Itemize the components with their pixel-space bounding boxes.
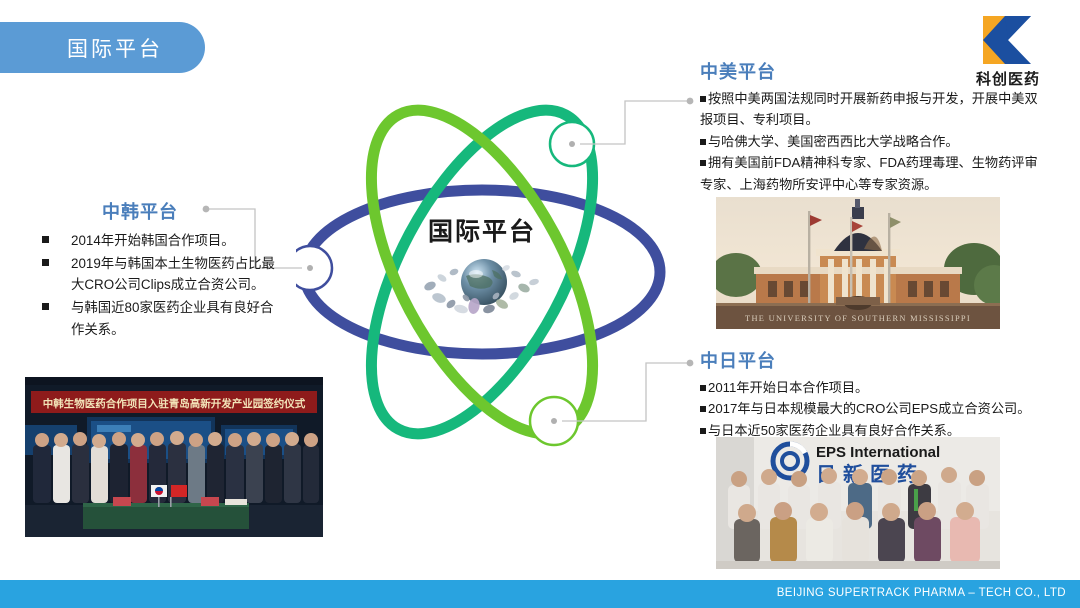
globe-pills-illustration xyxy=(406,246,562,320)
block-korea: 中韩平台 2014年开始韩国合作项目。 2019年与韩国本土生物医药占比最大CR… xyxy=(22,198,284,342)
node-dot-korea xyxy=(307,265,313,271)
node-dot-japan xyxy=(551,418,557,424)
photo-eps-sign-line1: EPS International xyxy=(816,444,940,461)
connector-dot-us xyxy=(687,98,694,105)
block-us: 中美平台 按照中美两国法规同时开展新药申报与开发，开展中美双报项目、专利项目。 … xyxy=(700,58,1045,195)
square-bullet-icon xyxy=(700,139,706,145)
slide-title-text: 国际平台 xyxy=(67,33,163,63)
photo-usm-svg: THE UNIVERSITY OF SOUTHERN MISSISSIPPI xyxy=(716,197,1000,329)
photo-korea: 中韩生物医药合作项目入驻青岛高新开发产业园签约仪式 xyxy=(25,377,323,537)
block-us-line-3: 拥有美国前FDA精神科专家、FDA药理毒理、生物药评审专家、上海药物所安评中心等… xyxy=(700,152,1045,195)
block-korea-line-3-text: 与韩国近80家医药企业具有良好合作关系。 xyxy=(71,297,284,340)
block-japan-line-2: 2017年与日本规模最大的CRO公司EPS成立合资公司。 xyxy=(700,398,1050,419)
node-dot-us xyxy=(569,141,575,147)
block-korea-line-1-text: 2014年开始韩国合作项目。 xyxy=(71,230,284,252)
atom-center-label: 国际平台 xyxy=(296,212,668,248)
block-korea-line-2: 2019年与韩国本土生物医药占比最大CRO公司Clips成立合资公司。 xyxy=(22,253,284,296)
square-bullet-icon xyxy=(700,160,706,166)
block-us-line-2-text: 与哈佛大学、美国密西西比大学战略合作。 xyxy=(708,134,959,149)
block-us-heading: 中美平台 xyxy=(700,58,1045,84)
square-bullet-icon xyxy=(700,428,706,434)
square-bullet-icon xyxy=(42,303,49,310)
block-us-line-2: 与哈佛大学、美国密西西比大学战略合作。 xyxy=(700,131,1045,152)
node-circle-korea[interactable] xyxy=(296,246,332,290)
block-us-line-3-text: 拥有美国前FDA精神科专家、FDA药理毒理、生物药评审专家、上海药物所安评中心等… xyxy=(700,155,1038,191)
block-japan-line-3-text: 与日本近50家医药企业具有良好合作关系。 xyxy=(708,423,960,438)
photo-eps-svg: EPS International 日新医药 xyxy=(716,437,1000,569)
square-bullet-icon xyxy=(700,406,706,412)
block-japan-line-2-text: 2017年与日本规模最大的CRO公司EPS成立合资公司。 xyxy=(708,401,1030,416)
connector-dot-japan xyxy=(687,360,694,367)
block-japan: 中日平台 2011年开始日本合作项目。 2017年与日本规模最大的CRO公司EP… xyxy=(700,347,1050,441)
square-bullet-icon xyxy=(42,236,49,243)
block-korea-line-3: 与韩国近80家医药企业具有良好合作关系。 xyxy=(22,297,284,340)
block-japan-line-1-text: 2011年开始日本合作项目。 xyxy=(708,380,868,395)
block-korea-line-1: 2014年开始韩国合作项目。 xyxy=(22,230,284,252)
slide-canvas: 国际平台 科创医药 国际平台 xyxy=(0,0,1080,608)
block-us-line-1-text: 按照中美两国法规同时开展新药申报与开发，开展中美双报项目、专利项目。 xyxy=(700,91,1038,127)
footer-text: BEIJING SUPERTRACK PHARMA – TECH CO., LT… xyxy=(777,587,1066,599)
block-us-line-1: 按照中美两国法规同时开展新药申报与开发，开展中美双报项目、专利项目。 xyxy=(700,88,1045,131)
slide-title-banner: 国际平台 xyxy=(0,22,205,73)
block-korea-heading: 中韩平台 xyxy=(102,198,284,224)
block-japan-heading: 中日平台 xyxy=(700,347,1050,373)
photo-korea-svg: 中韩生物医药合作项目入驻青岛高新开发产业园签约仪式 xyxy=(25,377,323,537)
photo-eps: EPS International 日新医药 xyxy=(716,437,1000,569)
block-japan-line-1: 2011年开始日本合作项目。 xyxy=(700,377,1050,398)
square-bullet-icon xyxy=(700,96,706,102)
photo-korea-banner: 中韩生物医药合作项目入驻青岛高新开发产业园签约仪式 xyxy=(43,397,306,410)
photo-usm-caption: THE UNIVERSITY OF SOUTHERN MISSISSIPPI xyxy=(745,314,971,323)
square-bullet-icon xyxy=(42,259,49,266)
photo-usm: THE UNIVERSITY OF SOUTHERN MISSISSIPPI xyxy=(716,197,1000,329)
block-korea-line-2-text: 2019年与韩国本土生物医药占比最大CRO公司Clips成立合资公司。 xyxy=(71,253,284,296)
square-bullet-icon xyxy=(700,385,706,391)
footer-bar: BEIJING SUPERTRACK PHARMA – TECH CO., LT… xyxy=(0,580,1080,608)
